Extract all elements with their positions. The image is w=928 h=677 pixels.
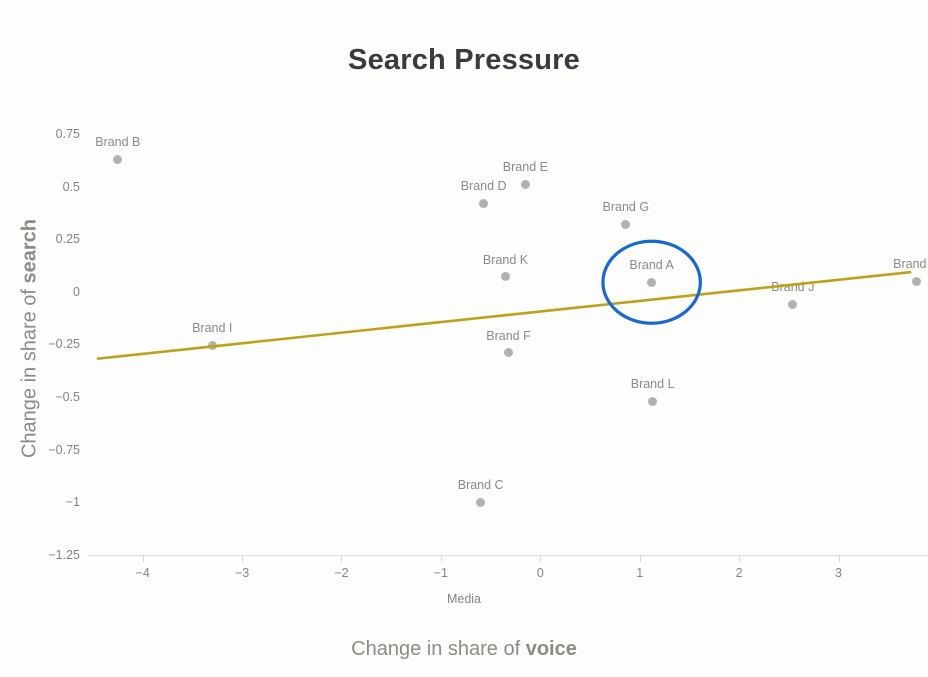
data-point[interactable] — [521, 180, 530, 189]
data-point[interactable] — [647, 278, 656, 287]
y-tick-label: 0.75 — [22, 127, 80, 141]
data-point[interactable] — [504, 348, 513, 357]
x-tick-mark — [839, 555, 840, 562]
data-point-label: Brand J — [771, 280, 814, 294]
x-caption-bold: voice — [526, 638, 577, 660]
x-tick-mark — [441, 555, 442, 562]
x-axis-line — [88, 555, 928, 556]
y-tick-label: −1.25 — [22, 548, 80, 562]
x-tick-mark — [540, 555, 541, 562]
data-point[interactable] — [788, 300, 797, 309]
x-tick-label: 3 — [835, 566, 842, 580]
x-tick-mark — [341, 555, 342, 562]
y-axis-caption: Change in share of search — [19, 179, 42, 499]
scatter-chart: Search Pressure 0.750.50.250−0.25−0.5−0.… — [0, 0, 928, 677]
x-axis-caption: Change in share of voice — [0, 638, 928, 661]
x-tick-label: 0 — [537, 566, 544, 580]
data-point-label: Brand K — [483, 253, 528, 267]
x-tick-mark — [242, 555, 243, 562]
data-point-label: Brand D — [461, 179, 507, 193]
data-point-label: Brand A — [629, 258, 673, 272]
x-tick-label: 2 — [736, 566, 743, 580]
x-tick-label: −4 — [136, 566, 150, 580]
x-tick-label: −3 — [235, 566, 249, 580]
chart-title: Search Pressure — [0, 44, 928, 77]
data-point-label: Brand H — [893, 257, 928, 271]
data-point[interactable] — [621, 220, 630, 229]
data-point[interactable] — [501, 272, 510, 281]
x-tick-label: −1 — [434, 566, 448, 580]
y-caption-bold: search — [19, 219, 41, 284]
plot-area: 0.750.50.250−0.25−0.5−0.75−1−1.25−4−3−2−… — [88, 115, 928, 561]
x-tick-mark — [143, 555, 144, 562]
x-tick-label: 1 — [636, 566, 643, 580]
x-tick-mark — [739, 555, 740, 562]
data-point[interactable] — [208, 341, 217, 350]
data-point[interactable] — [648, 397, 657, 406]
data-point-label: Brand C — [458, 478, 504, 492]
data-point-label: Brand E — [503, 160, 548, 174]
data-point[interactable] — [479, 199, 488, 208]
data-point[interactable] — [912, 277, 921, 286]
data-point-label: Brand F — [486, 329, 530, 343]
x-tick-label: −2 — [334, 566, 348, 580]
x-tick-mark — [640, 555, 641, 562]
y-caption-plain: Change in share of — [19, 283, 41, 458]
data-point-label: Brand G — [603, 200, 650, 214]
data-point-label: Brand L — [631, 377, 675, 391]
x-caption-plain: Change in share of — [351, 638, 526, 660]
data-point-label: Brand I — [192, 321, 232, 335]
data-point[interactable] — [476, 498, 485, 507]
data-point-label: Brand B — [95, 135, 140, 149]
x-axis-title: Media — [0, 592, 928, 606]
data-point[interactable] — [113, 155, 122, 164]
